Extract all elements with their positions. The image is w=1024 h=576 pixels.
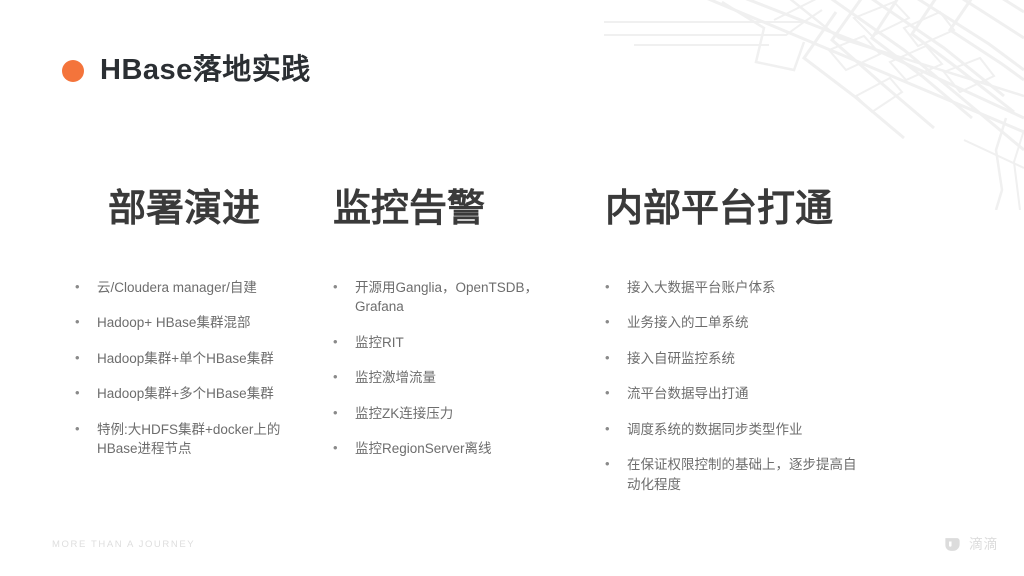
didi-logo: 滴滴	[943, 534, 998, 554]
list-item-label: 在保证权限控制的基础上，逐步提高自动化程度	[627, 455, 867, 494]
column-heading: 内部平台打通	[605, 186, 1024, 234]
column-heading: 监控告警	[333, 186, 605, 234]
bullet-list: • 云/Cloudera manager/自建 • Hadoop+ HBase集…	[75, 278, 305, 459]
content-columns: 部署演进 • 云/Cloudera manager/自建 • Hadoop+ H…	[0, 186, 1024, 510]
bullet-dot-icon: •	[333, 368, 355, 387]
list-item: • 监控RIT	[333, 333, 605, 353]
list-item: • 流平台数据导出打通	[605, 384, 1024, 404]
map-watermark-decoration	[604, 0, 1024, 210]
bullet-dot-icon: •	[75, 384, 97, 403]
bullet-dot-icon: •	[75, 278, 97, 297]
list-item: • 监控激增流量	[333, 368, 605, 388]
bullet-dot-icon: •	[605, 278, 627, 297]
bullet-dot-icon: •	[333, 278, 355, 297]
list-item-label: 监控激增流量	[355, 368, 577, 388]
list-item: • 接入大数据平台账户体系	[605, 278, 1024, 298]
list-item: • Hadoop+ HBase集群混部	[75, 313, 305, 333]
orange-bullet-icon	[62, 60, 84, 82]
didi-logo-icon	[943, 535, 962, 554]
bullet-dot-icon: •	[605, 313, 627, 332]
footer-tagline: MORE THAN A JOURNEY	[52, 539, 195, 550]
list-item-label: Hadoop集群+多个HBase集群	[97, 384, 305, 404]
bullet-dot-icon: •	[75, 313, 97, 332]
list-item-label: 监控RIT	[355, 333, 577, 353]
list-item-label: 监控ZK连接压力	[355, 404, 577, 424]
page-title: HBase落地实践	[100, 55, 311, 87]
bullet-dot-icon: •	[605, 455, 627, 474]
list-item: • 在保证权限控制的基础上，逐步提高自动化程度	[605, 455, 1024, 494]
list-item-label: 接入大数据平台账户体系	[627, 278, 867, 298]
bullet-dot-icon: •	[605, 420, 627, 439]
list-item: • Hadoop集群+多个HBase集群	[75, 384, 305, 404]
column-internal-platform-integration: 内部平台打通 • 接入大数据平台账户体系 • 业务接入的工单系统 • 接入自研监…	[605, 186, 1024, 510]
bullet-list: • 接入大数据平台账户体系 • 业务接入的工单系统 • 接入自研监控系统 • 流…	[605, 278, 1024, 495]
list-item-label: Hadoop+ HBase集群混部	[97, 313, 305, 333]
slide-title-row: HBase落地实践	[62, 36, 311, 107]
list-item-label: 开源用Ganglia，OpenTSDB，Grafana	[355, 278, 577, 317]
bullet-dot-icon: •	[605, 349, 627, 368]
list-item-label: 调度系统的数据同步类型作业	[627, 420, 867, 440]
list-item-label: Hadoop集群+单个HBase集群	[97, 349, 305, 369]
column-deployment-evolution: 部署演进 • 云/Cloudera manager/自建 • Hadoop+ H…	[0, 186, 305, 510]
list-item: • Hadoop集群+单个HBase集群	[75, 349, 305, 369]
bullet-dot-icon: •	[333, 333, 355, 352]
list-item: • 业务接入的工单系统	[605, 313, 1024, 333]
list-item: • 接入自研监控系统	[605, 349, 1024, 369]
column-monitoring-alerting: 监控告警 • 开源用Ganglia，OpenTSDB，Grafana • 监控R…	[305, 186, 605, 510]
bullet-dot-icon: •	[75, 349, 97, 368]
bullet-list: • 开源用Ganglia，OpenTSDB，Grafana • 监控RIT • …	[333, 278, 605, 459]
list-item-label: 监控RegionServer离线	[355, 439, 577, 459]
list-item: • 调度系统的数据同步类型作业	[605, 420, 1024, 440]
list-item-label: 特例:大HDFS集群+docker上的HBase进程节点	[97, 420, 305, 459]
bullet-dot-icon: •	[75, 420, 97, 439]
didi-logo-text: 滴滴	[969, 534, 998, 554]
list-item: • 监控ZK连接压力	[333, 404, 605, 424]
list-item-label: 云/Cloudera manager/自建	[97, 278, 305, 298]
list-item: • 监控RegionServer离线	[333, 439, 605, 459]
bullet-dot-icon: •	[605, 384, 627, 403]
list-item-label: 业务接入的工单系统	[627, 313, 867, 333]
list-item: • 特例:大HDFS集群+docker上的HBase进程节点	[75, 420, 305, 459]
bullet-dot-icon: •	[333, 439, 355, 458]
list-item-label: 接入自研监控系统	[627, 349, 867, 369]
bullet-dot-icon: •	[333, 404, 355, 423]
column-heading: 部署演进	[75, 186, 305, 234]
list-item-label: 流平台数据导出打通	[627, 384, 867, 404]
list-item: • 开源用Ganglia，OpenTSDB，Grafana	[333, 278, 605, 317]
list-item: • 云/Cloudera manager/自建	[75, 278, 305, 298]
